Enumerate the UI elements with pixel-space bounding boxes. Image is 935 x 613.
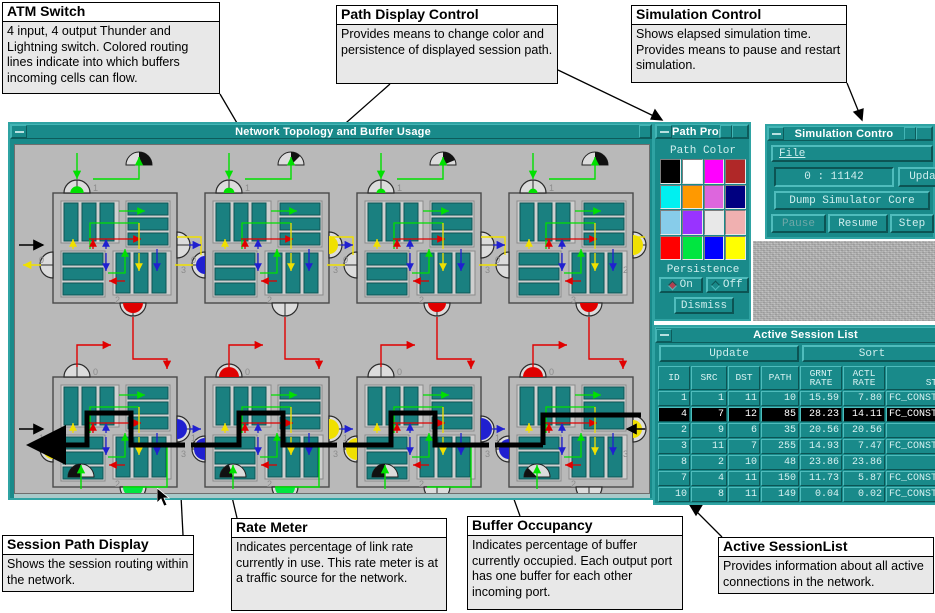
svg-text:0: 0 [397,367,402,377]
session-sort-button[interactable]: Sort [802,345,935,362]
cell-path: 255 [761,439,799,454]
callout-buffer-occupancy: Buffer Occupancy Indicates percentage of… [467,516,683,610]
svg-text:0: 0 [495,255,500,265]
callout-title: Simulation Control [632,6,846,25]
persistence-radio-group[interactable]: On Off [659,277,749,293]
callout-simulation-control: Simulation Control Shows elapsed simulat… [631,5,847,83]
cell-id: 1 [658,391,690,406]
callout-session-path-display: Session Path Display Shows the session r… [2,535,194,592]
callout-body: Provides information about all active co… [719,557,933,593]
persistence-label: Persistence [659,263,747,276]
cell-grnt: 20.56 [800,423,842,438]
cell-actl: 0.02 [843,487,885,502]
callout-body: Indicates percentage of buffer currently… [468,536,682,603]
step-button[interactable]: Step [890,214,934,233]
callout-path-display-control: Path Display Control Provides means to c… [336,5,558,84]
callout-body: Shows elapsed simulation time. Provides … [632,25,846,77]
cell-state: FC_NORMAL [886,423,935,438]
svg-text:1: 1 [245,183,250,193]
callout-title: Rate Meter [232,519,446,538]
svg-text:2: 2 [115,295,120,305]
cell-id: 8 [658,455,690,470]
persistence-off-label: Off [723,279,743,291]
cell-src: 9 [691,423,727,438]
svg-text:1: 1 [191,433,196,443]
resize-handle-icon[interactable] [639,125,651,138]
cell-actl: 7.80 [843,391,885,406]
color-swatch-14[interactable] [704,236,725,261]
table-row[interactable]: 8 2 10 48 23.86 23.86 FC_NORMAL [658,455,935,470]
simulation-control-window[interactable]: Simulation Contro File 0 : 11142 Update … [765,124,935,239]
resume-button[interactable]: Resume [828,214,888,233]
svg-text:0: 0 [39,255,44,265]
svg-text:0: 0 [93,367,98,377]
minimize-icon[interactable] [656,329,672,342]
cell-state: FC_CONSTRAINED [886,391,935,406]
pathprops-titlebar[interactable]: Path Prop [655,124,749,139]
svg-text:1: 1 [495,433,500,443]
topology-diagram: 1 0 3 2 1 0 3 2 1 0 3 2 1 0 2 3 [15,145,649,493]
svg-text:2: 2 [267,295,272,305]
svg-text:1: 1 [343,433,348,443]
cell-state: FC_CONSTRAINED [886,471,935,486]
cell-path: 85 [761,407,799,422]
callout-title: Active SessionList [719,538,933,557]
topology-window-title: Network Topology and Buffer Usage [27,126,639,138]
table-row[interactable]: 2 9 6 35 20.56 20.56 FC_NORMAL [658,423,935,438]
cell-src: 2 [691,455,727,470]
color-swatch-11[interactable] [725,210,746,235]
menu-item-file[interactable]: File [779,148,805,160]
cell-src: 4 [691,471,727,486]
maximize-icon[interactable] [732,125,748,138]
path-color-label: Path Color [659,144,747,157]
topology-canvas[interactable]: 1 0 3 2 1 0 3 2 1 0 3 2 1 0 2 3 [14,144,650,494]
svg-text:2: 2 [267,479,272,489]
cell-path: 48 [761,455,799,470]
session-update-button[interactable]: Update [659,345,799,362]
cell-dst: 11 [728,391,760,406]
table-row[interactable]: 1 1 11 10 15.59 7.80 FC_CONSTRAINED [658,391,935,406]
cell-state: FC_CONSTRAINED [886,407,935,422]
table-row[interactable]: 3 11 7 255 14.93 7.47 FC_CONSTRAINED [658,439,935,454]
svg-text:2: 2 [419,295,424,305]
menu-dot-icon[interactable] [720,125,732,138]
cell-grnt: 0.04 [800,487,842,502]
cell-id: 4 [658,407,690,422]
cell-actl: 20.56 [843,423,885,438]
cell-actl: 14.11 [843,407,885,422]
callout-title: ATM Switch [3,3,219,22]
minimize-icon[interactable] [656,125,672,138]
svg-text:1: 1 [397,183,402,193]
svg-text:3: 3 [333,449,338,459]
cell-path: 35 [761,423,799,438]
maximize-icon[interactable] [916,127,932,140]
callout-active-session-list: Active SessionList Provides information … [718,537,934,594]
network-topology-window[interactable]: Network Topology and Buffer Usage [8,122,654,500]
cell-grnt: 14.93 [800,439,842,454]
svg-text:0: 0 [549,367,554,377]
svg-text:3: 3 [333,265,338,275]
svg-text:1: 1 [549,183,554,193]
persistence-on-radio[interactable]: On [659,277,703,293]
svg-text:1: 1 [39,433,44,443]
cell-src: 1 [691,391,727,406]
table-header-row: ID SRC DST PATH GRNTRATE ACTLRATE FCSTAT… [658,366,935,390]
cell-id: 7 [658,471,690,486]
simctl-window-title: Simulation Contro [784,128,904,140]
cell-src: 7 [691,407,727,422]
sesslist-titlebar[interactable]: Active Session List [655,327,935,343]
cell-id: 2 [658,423,690,438]
color-swatch-5[interactable] [682,185,703,210]
callout-body: Indicates percentage of link rate curren… [232,538,446,590]
svg-text:3: 3 [181,449,186,459]
svg-text:2: 2 [419,479,424,489]
col-path[interactable]: PATH [761,366,799,390]
color-swatch-2[interactable] [704,159,725,184]
col-fc-state[interactable]: FCSTATE [886,366,935,390]
table-row[interactable]: 10 8 11 149 0.04 0.02 FC_CONSTRAINED [658,487,935,502]
svg-text:2: 2 [571,479,576,489]
color-swatch-4[interactable] [660,185,681,210]
cell-id: 3 [658,439,690,454]
cell-id: 10 [658,487,690,502]
update-button[interactable]: Update [898,167,935,187]
callout-atm-switch: ATM Switch 4 input, 4 output Thunder and… [2,2,220,94]
cell-state: FC_NORMAL [886,455,935,470]
dump-simulator-core-button[interactable]: Dump Simulator Core [774,191,930,210]
dismiss-button[interactable]: Dismiss [674,297,734,314]
color-swatch-0[interactable] [660,159,681,184]
color-swatch-1[interactable] [682,159,703,184]
color-swatch-8[interactable] [660,210,681,235]
cell-dst: 6 [728,423,760,438]
radio-diamond-icon [710,280,720,290]
svg-text:3: 3 [181,265,186,275]
svg-text:1: 1 [93,183,98,193]
topology-window-footer [14,494,650,498]
callout-title: Buffer Occupancy [468,517,682,536]
cell-dst: 12 [728,407,760,422]
cell-actl: 23.86 [843,455,885,470]
cell-state: FC_CONSTRAINED [886,487,935,502]
path-properties-window[interactable]: Path Prop Path Color Persistence On Off … [653,122,751,321]
col-grnt-rate[interactable]: GRNTRATE [800,366,842,390]
cell-path: 10 [761,391,799,406]
cell-actl: 5.87 [843,471,885,486]
svg-text:0: 0 [343,255,348,265]
callout-rate-meter: Rate Meter Indicates percentage of link … [231,518,447,611]
pathprops-window-title: Path Prop [672,126,720,138]
svg-text:0: 0 [245,367,250,377]
pause-button[interactable]: Pause [771,214,826,233]
cell-src: 11 [691,439,727,454]
color-swatch-7[interactable] [725,185,746,210]
col-dst[interactable]: DST [728,366,760,390]
color-swatch-15[interactable] [725,236,746,261]
cell-grnt: 11.73 [800,471,842,486]
cell-grnt: 23.86 [800,455,842,470]
svg-text:3: 3 [571,295,576,305]
desktop-background-patch [753,241,935,321]
table-row[interactable]: 4 7 12 85 28.23 14.11 FC_CONSTRAINED [658,407,935,422]
cell-src: 8 [691,487,727,502]
topology-titlebar[interactable]: Network Topology and Buffer Usage [10,124,652,139]
callout-title: Path Display Control [337,6,557,25]
cell-path: 149 [761,487,799,502]
cell-dst: 11 [728,487,760,502]
svg-text:3: 3 [485,265,490,275]
simctl-titlebar[interactable]: Simulation Contro [767,126,933,141]
svg-text:3: 3 [623,449,628,459]
session-table[interactable]: ID SRC DST PATH GRNTRATE ACTLRATE FCSTAT… [657,365,935,503]
callout-body: 4 input, 4 output Thunder and Lightning … [3,22,219,89]
cell-grnt: 28.23 [800,407,842,422]
svg-text:0: 0 [191,255,196,265]
menu-dot-icon[interactable] [904,127,916,140]
cell-path: 150 [761,471,799,486]
callout-title: Session Path Display [3,536,193,555]
minimize-icon[interactable] [11,125,27,138]
cell-actl: 7.47 [843,439,885,454]
session-table-body: 1 1 11 10 15.59 7.80 FC_CONSTRAINED 4 7 … [658,391,935,502]
color-swatch-12[interactable] [660,236,681,261]
cell-dst: 10 [728,455,760,470]
persistence-off-radio[interactable]: Off [706,277,750,293]
mouse-cursor [157,488,171,508]
table-row[interactable]: 7 4 11 150 11.73 5.87 FC_CONSTRAINED [658,471,935,486]
color-swatch-13[interactable] [682,236,703,261]
persistence-on-label: On [680,279,693,291]
col-actl-rate[interactable]: ACTLRATE [843,366,885,390]
cell-dst: 7 [728,439,760,454]
color-swatch-6[interactable] [704,185,725,210]
minimize-icon[interactable] [768,127,784,140]
sesslist-window-title: Active Session List [672,329,935,341]
cell-dst: 11 [728,471,760,486]
cell-state: FC_CONSTRAINED [886,439,935,454]
path-color-swatch-grid[interactable] [660,159,746,260]
svg-text:2: 2 [623,265,628,275]
radio-diamond-icon [667,280,677,290]
menubar[interactable]: File [771,145,933,162]
simulation-time-display: 0 : 11142 [774,167,894,187]
svg-text:2: 2 [115,479,120,489]
cell-grnt: 15.59 [800,391,842,406]
callout-body: Shows the session routing within the net… [3,555,193,591]
color-swatch-10[interactable] [704,210,725,235]
active-session-list-window[interactable]: Active Session List Update Sort ID SRC D… [653,325,935,505]
col-id[interactable]: ID [658,366,690,390]
callout-body: Provides means to change color and persi… [337,25,557,61]
color-swatch-9[interactable] [682,210,703,235]
color-swatch-3[interactable] [725,159,746,184]
col-src[interactable]: SRC [691,366,727,390]
svg-text:3: 3 [485,449,490,459]
